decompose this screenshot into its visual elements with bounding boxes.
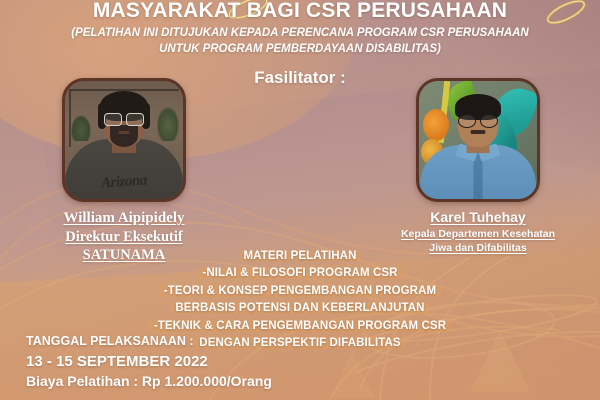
training-material-item: BERBASIS POTENSI DAN KEBERLANJUTAN	[0, 300, 600, 317]
training-material-item: -NILAI & FILOSOFI PROGRAM CSR	[0, 265, 600, 282]
speaker-card-left: Arizona William Aipipidely Direktur Ekse…	[24, 78, 224, 264]
speaker-portrait-william: Arizona	[65, 81, 183, 199]
schedule-block: TANGGAL PELAKSANAAN : 13 - 15 SEPTEMBER …	[26, 332, 272, 392]
speaker-photo-right	[416, 78, 540, 202]
page-title: MASYARAKAT BAGI CSR PERUSAHAAN	[0, 0, 600, 22]
speaker-photo-left: Arizona	[62, 78, 186, 202]
poster-header: MASYARAKAT BAGI CSR PERUSAHAAN (PELATIHA…	[0, 0, 600, 57]
portrait-plant-right	[157, 107, 179, 141]
page-subtitle-line-1: (PELATIHAN INI DITUJUKAN KEPADA PERENCAN…	[0, 26, 600, 42]
speaker-card-right: Karel Tuhehay Kepala Departemen Kesehata…	[378, 78, 578, 255]
portrait-glasses-left	[103, 113, 145, 124]
schedule-date-value: 13 - 15 SEPTEMBER 2022	[26, 351, 272, 372]
training-material-item: -TEORI & KONSEP PENGEMBANGAN PROGRAM	[0, 283, 600, 300]
training-material-heading: MATERI PELATIHAN	[0, 248, 600, 265]
schedule-price: Biaya Pelatihan : Rp 1.200.000/Orang	[26, 372, 272, 392]
speaker-portrait-karel	[419, 81, 537, 199]
speaker-name-right: Karel Tuhehay	[378, 209, 578, 227]
portrait-mural-orange-1	[423, 109, 449, 141]
poster-canvas: MASYARAKAT BAGI CSR PERUSAHAAN (PELATIHA…	[0, 0, 600, 400]
schedule-date-label: TANGGAL PELAKSANAAN :	[26, 332, 272, 351]
portrait-beard-left	[110, 125, 138, 147]
portrait-plant-left	[71, 115, 91, 141]
portrait-shirt-logo: Arizona	[101, 172, 148, 192]
portrait-mustache-right	[471, 130, 486, 134]
portrait-mouth-left	[119, 131, 130, 134]
speaker-name-left: William Aipipidely	[24, 209, 224, 228]
page-subtitle: (PELATIHAN INI DITUJUKAN KEPADA PERENCAN…	[0, 26, 600, 57]
portrait-glasses-right	[457, 114, 499, 126]
speaker-role-right-line-1: Kepala Departemen Kesehatan	[378, 227, 578, 241]
page-subtitle-line-2: UNTUK PROGRAM PEMBERDAYAAN DISABILITAS)	[0, 42, 600, 58]
